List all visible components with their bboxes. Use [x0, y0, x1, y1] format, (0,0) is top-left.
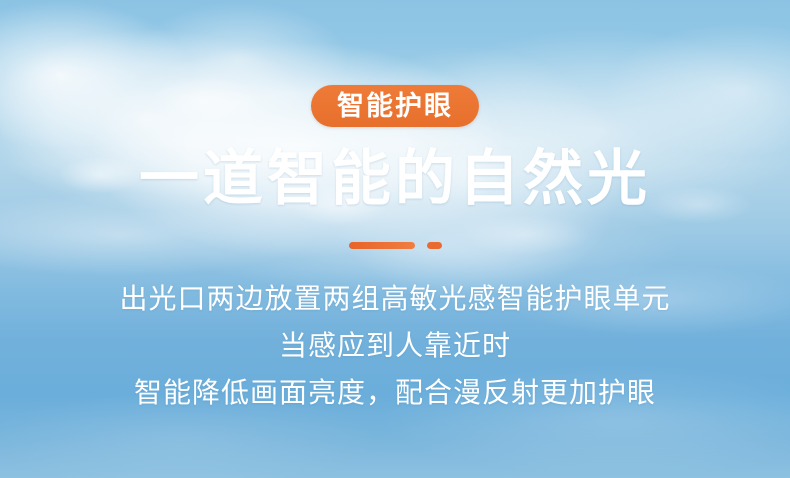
- feature-badge: 智能护眼: [311, 85, 479, 127]
- promo-poster: 智能护眼 一道智能的自然光 出光口两边放置两组高敏光感智能护眼单元 当感应到人靠…: [0, 0, 790, 478]
- body-line-2: 当感应到人靠近时: [279, 328, 511, 363]
- headline-title: 一道智能的自然光: [139, 149, 651, 209]
- divider-dash-icon: [427, 242, 442, 249]
- divider-bar-icon: [349, 242, 415, 249]
- poster-content: 智能护眼 一道智能的自然光 出光口两边放置两组高敏光感智能护眼单元 当感应到人靠…: [0, 0, 790, 478]
- accent-divider: [349, 242, 442, 249]
- body-line-1: 出光口两边放置两组高敏光感智能护眼单元: [119, 281, 670, 316]
- body-copy: 出光口两边放置两组高敏光感智能护眼单元 当感应到人靠近时 智能降低画面亮度，配合…: [119, 281, 670, 410]
- body-line-3: 智能降低画面亮度，配合漫反射更加护眼: [134, 375, 656, 410]
